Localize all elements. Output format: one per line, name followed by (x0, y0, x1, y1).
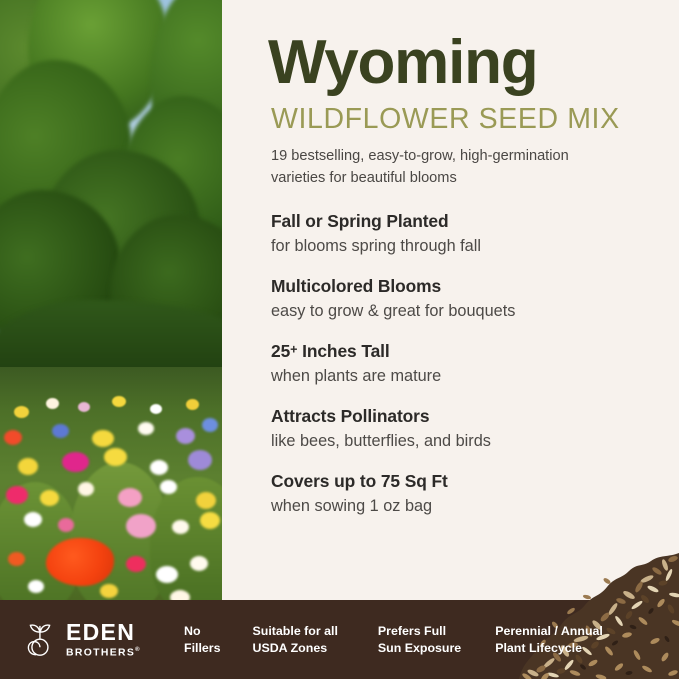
badge-line-1: No (184, 623, 221, 640)
badge-line-2: USDA Zones (253, 640, 338, 657)
flower (176, 428, 195, 444)
product-image-card: Wyoming WILDFLOWER SEED MIX 19 bestselli… (0, 0, 679, 679)
feature-subtext: like bees, butterflies, and birds (271, 431, 651, 452)
flower (92, 430, 114, 447)
flower (188, 450, 212, 470)
logo-brand-name: EDEN (66, 621, 141, 644)
footer-badge-sun-exposure: Prefers Full Sun Exposure (378, 623, 461, 656)
feature-heading-number: 25 (271, 341, 290, 361)
badge-line-2: Fillers (184, 640, 221, 657)
flower (62, 452, 89, 472)
footer-bar: EDEN BROTHERS® No Fillers Suitable for a… (0, 600, 679, 679)
poppy-flower (46, 538, 114, 586)
logo-brand-sub-text: BROTHERS (66, 647, 135, 658)
feature-list: Fall or Spring Planted for blooms spring… (271, 211, 651, 517)
flower (14, 406, 29, 418)
flower (202, 418, 218, 432)
flower (40, 490, 59, 506)
footer-content: EDEN BROTHERS® No Fillers Suitable for a… (0, 600, 679, 679)
product-subtitle: WILDFLOWER SEED MIX (271, 104, 651, 135)
flower (24, 512, 42, 527)
flower (196, 492, 216, 509)
flower (126, 514, 156, 538)
feature-subtext: when sowing 1 oz bag (271, 496, 651, 517)
eden-brothers-logo[interactable]: EDEN BROTHERS® (22, 620, 148, 660)
badge-line-1: Suitable for all (253, 623, 338, 640)
flower (58, 518, 74, 532)
logo-wordmark: EDEN BROTHERS® (66, 621, 141, 659)
feature-heading-rest: Inches Tall (297, 341, 389, 361)
footer-badge-no-fillers: No Fillers (184, 623, 221, 656)
flower (118, 488, 142, 507)
flower (100, 584, 118, 598)
sprout-seedling-icon (22, 620, 59, 660)
flower (104, 448, 127, 466)
flower (156, 566, 178, 583)
feature-heading: Covers up to 75 Sq Ft (271, 471, 651, 493)
badge-line-1: Prefers Full (378, 623, 461, 640)
product-info-panel: Wyoming WILDFLOWER SEED MIX 19 bestselli… (222, 0, 679, 612)
flower (150, 460, 168, 475)
feature-heading: 25+ Inches Tall (271, 341, 651, 363)
flower (78, 482, 94, 496)
flower (6, 486, 28, 504)
wildflower-meadow-photo (0, 0, 222, 612)
feature-item: Fall or Spring Planted for blooms spring… (271, 211, 651, 257)
feature-subtext: when plants are mature (271, 366, 651, 387)
flower (18, 458, 38, 475)
feature-item: Covers up to 75 Sq Ft when sowing 1 oz b… (271, 471, 651, 517)
flower (78, 402, 90, 412)
feature-item: 25+ Inches Tall when plants are mature (271, 341, 651, 387)
registered-mark-icon: ® (135, 647, 141, 653)
flower (200, 512, 220, 529)
flower (172, 520, 189, 534)
flower (46, 398, 59, 409)
badge-line-2: Sun Exposure (378, 640, 461, 657)
flower (52, 424, 69, 438)
feature-heading: Attracts Pollinators (271, 406, 651, 428)
logo-brand-sub: BROTHERS® (66, 647, 141, 659)
feature-subtext: easy to grow & great for bouquets (271, 301, 651, 322)
page-title: Wyoming (268, 34, 651, 93)
feature-item: Attracts Pollinators like bees, butterfl… (271, 406, 651, 452)
flower (150, 404, 162, 414)
badge-line-2: Plant Lifecycle (495, 640, 603, 657)
footer-badge-usda-zones: Suitable for all USDA Zones (253, 623, 338, 656)
flower (160, 480, 177, 494)
product-description: 19 bestselling, easy-to-grow, high-germi… (271, 146, 623, 189)
feature-heading: Multicolored Blooms (271, 276, 651, 298)
feature-subtext: for blooms spring through fall (271, 236, 651, 257)
flower (190, 556, 208, 571)
flower (8, 552, 25, 566)
flower (138, 422, 154, 435)
feature-item: Multicolored Blooms easy to grow & great… (271, 276, 651, 322)
flower (4, 430, 22, 445)
flower (112, 396, 126, 407)
flower (126, 556, 146, 572)
badge-line-1: Perennial / Annual (495, 623, 603, 640)
flower (186, 399, 199, 410)
flower (28, 580, 44, 593)
feature-heading: Fall or Spring Planted (271, 211, 651, 233)
footer-badge-plant-lifecycle: Perennial / Annual Plant Lifecycle (495, 623, 603, 656)
